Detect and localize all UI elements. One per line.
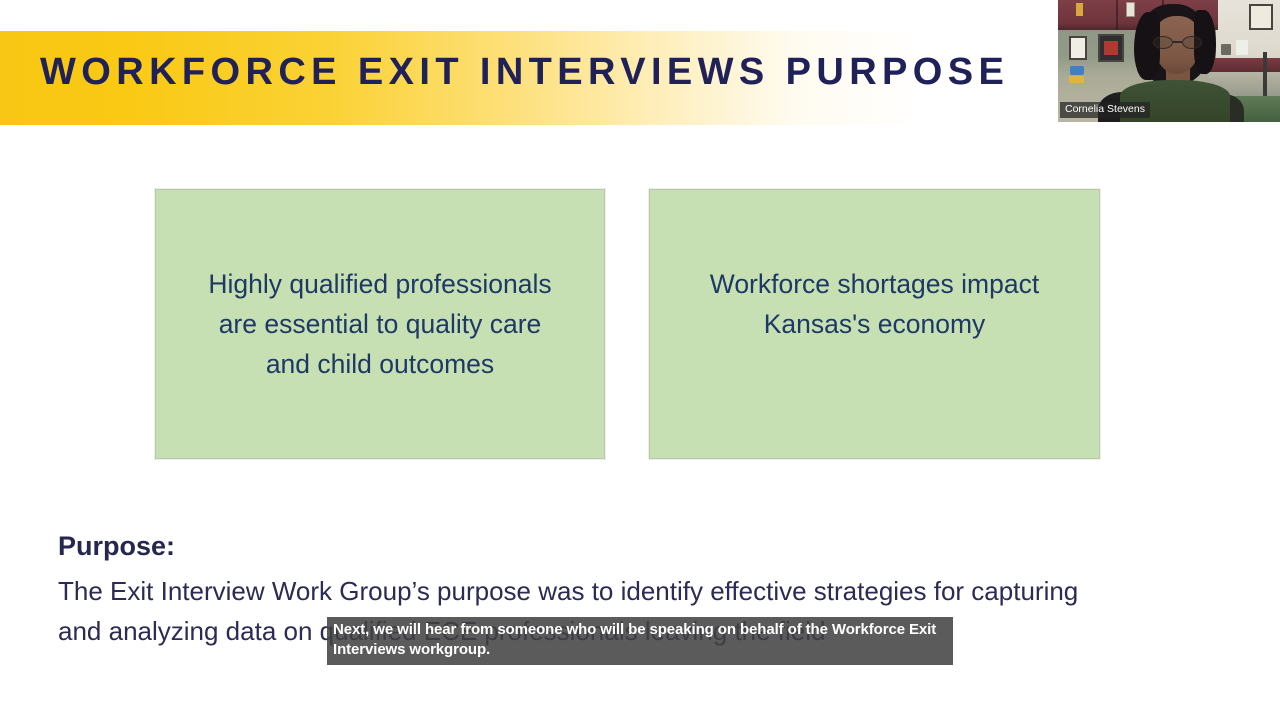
office-counter-edge xyxy=(1208,58,1280,72)
glasses-bridge xyxy=(1173,41,1182,43)
caption-text: Next, we will hear from someone who will… xyxy=(333,620,947,660)
sticky-note xyxy=(1076,3,1083,16)
glasses-lens-right xyxy=(1182,36,1202,49)
desk-item-yellow xyxy=(1069,76,1084,83)
callout-box-left: Highly qualified professionals are essen… xyxy=(155,189,605,459)
webcam-pip-tile[interactable]: Cornelia Stevens xyxy=(1058,0,1280,122)
callout-box-right: Workforce shortages impact Kansas's econ… xyxy=(649,189,1100,459)
desk-item-blue xyxy=(1070,66,1084,75)
slide-watermark xyxy=(1098,648,1218,674)
cabinet-seam xyxy=(1116,0,1118,30)
glasses-lens-left xyxy=(1153,36,1173,49)
participant-name-label: Cornelia Stevens xyxy=(1060,102,1150,118)
wall-picture-frame xyxy=(1249,4,1273,30)
callout-box-left-text: Highly qualified professionals are essen… xyxy=(194,264,565,385)
purpose-heading: Purpose: xyxy=(58,530,175,562)
wall-picture-frame xyxy=(1098,34,1124,62)
callout-box-right-text: Workforce shortages impact Kansas's econ… xyxy=(696,264,1053,345)
person-glasses xyxy=(1152,36,1204,49)
desk-cup xyxy=(1236,40,1248,55)
caption-overlay: Next, we will hear from someone who will… xyxy=(327,617,953,665)
wall-certificate xyxy=(1069,36,1087,60)
desk-mug xyxy=(1221,44,1231,55)
door-tag xyxy=(1126,2,1135,17)
page-title: WORKFORCE EXIT INTERVIEWS PURPOSE xyxy=(40,53,1009,91)
